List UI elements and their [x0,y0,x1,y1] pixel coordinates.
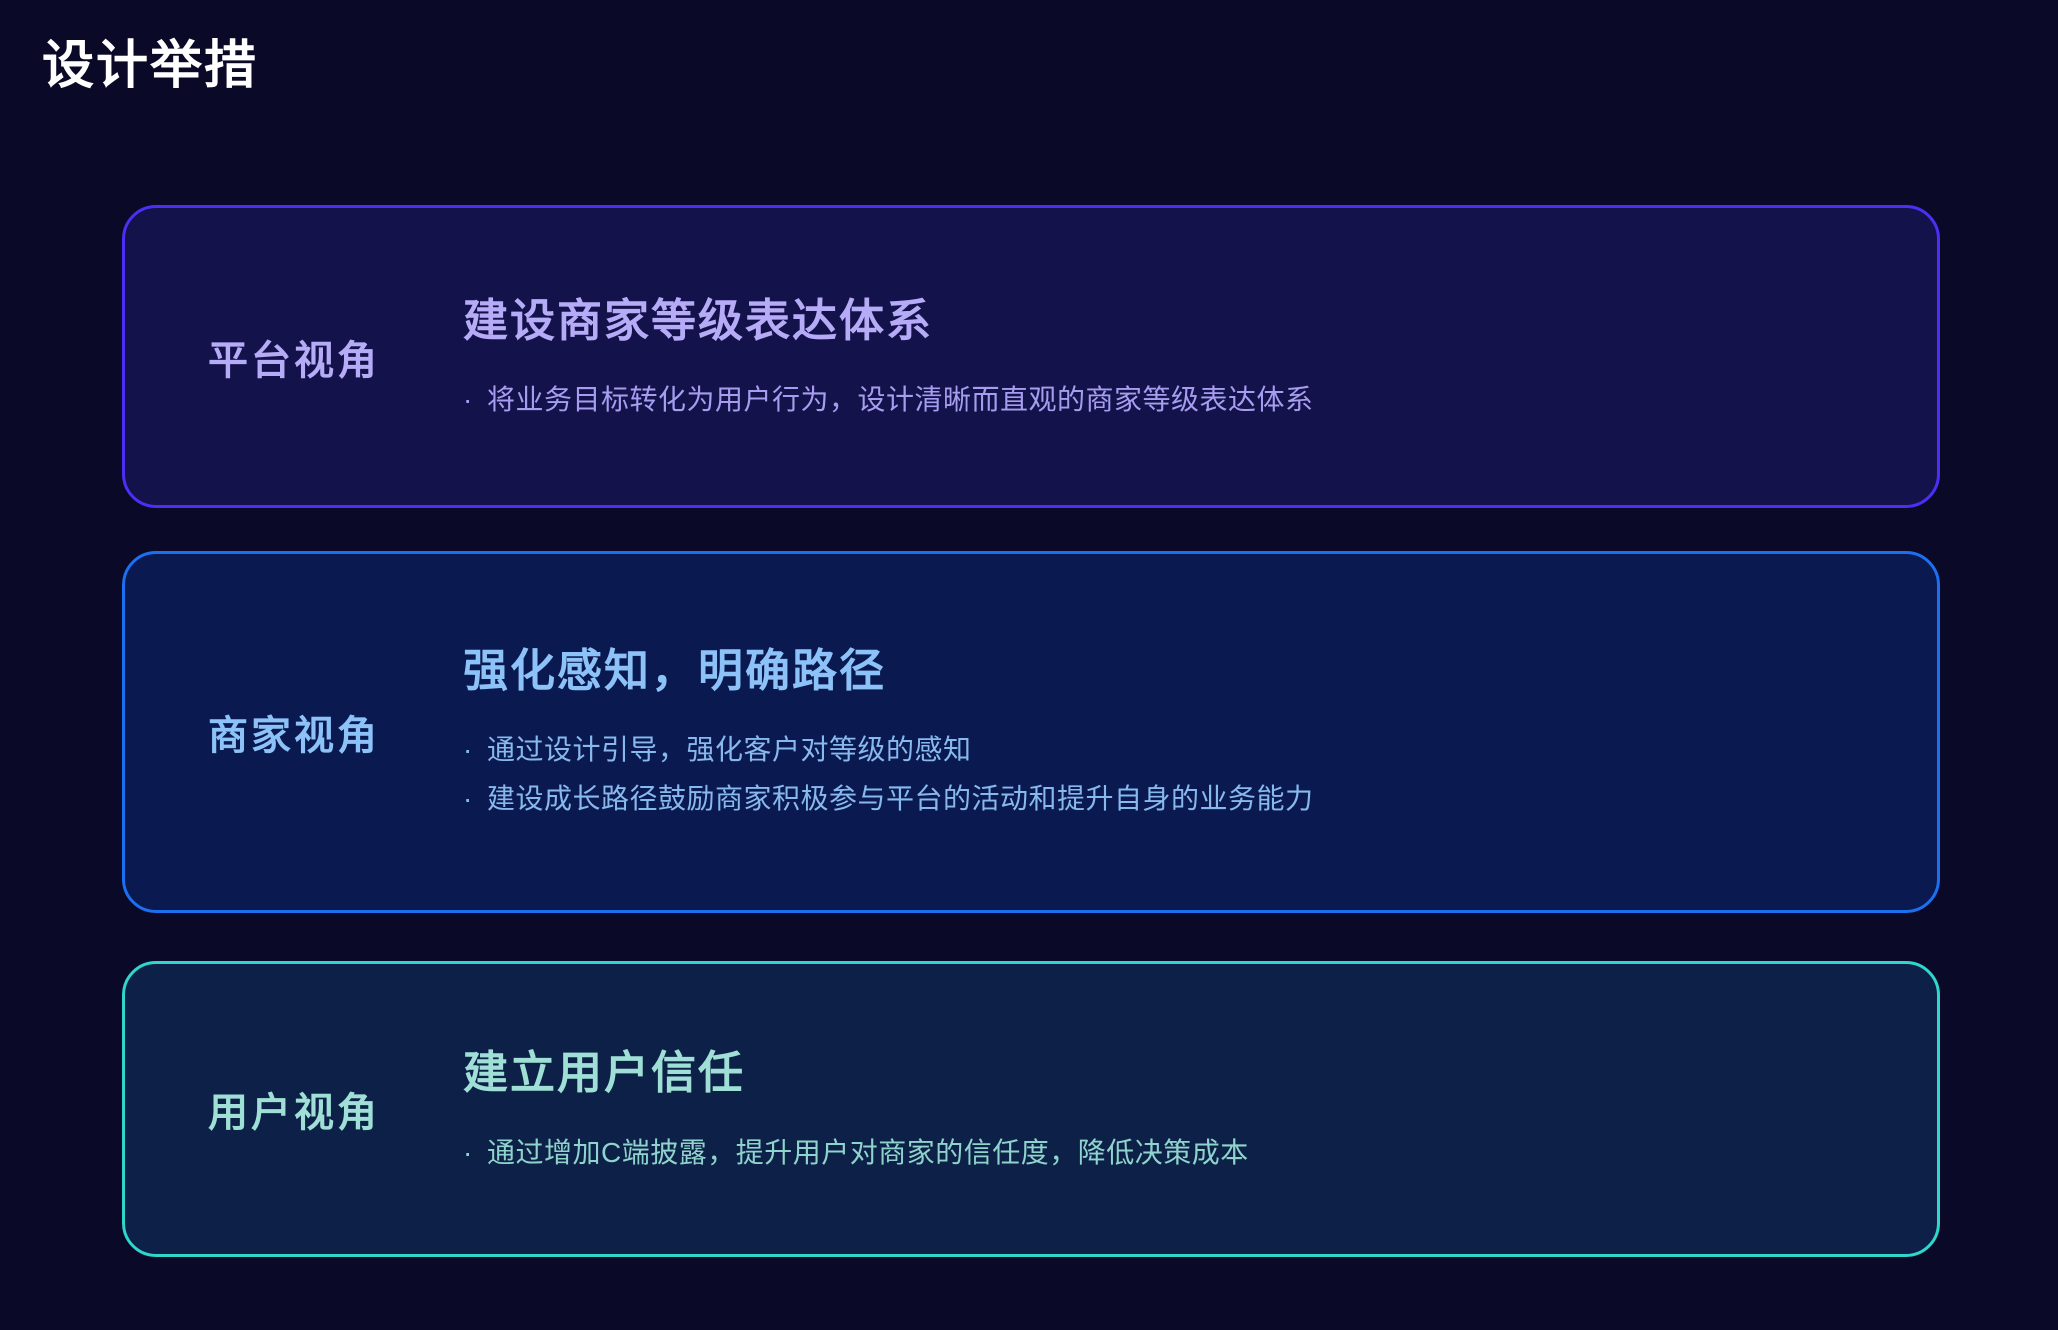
page-title: 设计举措 [42,38,258,95]
card-bullet-list: · 将业务目标转化为用户行为，设计清晰而直观的商家等级表达体系 [463,375,1897,424]
card-aspect-label: 用户视角 [125,1080,463,1138]
perspective-card-platform[interactable]: 平台视角 建设商家等级表达体系 · 将业务目标转化为用户行为，设计清晰而直观的商… [122,205,1940,508]
card-aspect-label: 平台视角 [125,328,463,386]
slide-canvas: 设计举措 平台视角 建设商家等级表达体系 · 将业务目标转化为用户行为，设计清晰… [0,0,2058,1330]
list-item: · 通过设计引导，强化客户对等级的感知 [463,725,1897,774]
list-item: · 将业务目标转化为用户行为，设计清晰而直观的商家等级表达体系 [463,375,1897,424]
bullet-text: 将业务目标转化为用户行为，设计清晰而直观的商家等级表达体系 [487,375,1314,424]
list-item: · 通过增加C端披露，提升用户对商家的信任度，降低决策成本 [463,1128,1897,1177]
bullet-dot-icon: · [463,725,487,774]
bullet-dot-icon: · [463,1128,487,1177]
bullet-text: 建设成长路径鼓励商家积极参与平台的活动和提升自身的业务能力 [487,774,1314,823]
card-heading: 强化感知，明确路径 [463,643,1897,699]
card-aspect-label: 商家视角 [125,703,463,761]
bullet-text: 通过设计引导，强化客户对等级的感知 [487,725,972,774]
bullet-dot-icon: · [463,375,487,424]
bullet-dot-icon: · [463,774,487,823]
card-body: 强化感知，明确路径 · 通过设计引导，强化客户对等级的感知 · 建设成长路径鼓励… [463,641,1937,823]
perspective-card-user[interactable]: 用户视角 建立用户信任 · 通过增加C端披露，提升用户对商家的信任度，降低决策成… [122,961,1940,1257]
card-body: 建立用户信任 · 通过增加C端披露，提升用户对商家的信任度，降低决策成本 [463,1041,1937,1176]
card-heading: 建立用户信任 [463,1045,1897,1101]
card-heading: 建设商家等级表达体系 [463,293,1897,349]
card-bullet-list: · 通过增加C端披露，提升用户对商家的信任度，降低决策成本 [463,1128,1897,1177]
card-body: 建设商家等级表达体系 · 将业务目标转化为用户行为，设计清晰而直观的商家等级表达… [463,289,1937,424]
bullet-text: 通过增加C端披露，提升用户对商家的信任度，降低决策成本 [487,1128,1249,1177]
list-item: · 建设成长路径鼓励商家积极参与平台的活动和提升自身的业务能力 [463,774,1897,823]
card-bullet-list: · 通过设计引导，强化客户对等级的感知 · 建设成长路径鼓励商家积极参与平台的活… [463,725,1897,823]
perspective-card-merchant[interactable]: 商家视角 强化感知，明确路径 · 通过设计引导，强化客户对等级的感知 · 建设成… [122,551,1940,913]
